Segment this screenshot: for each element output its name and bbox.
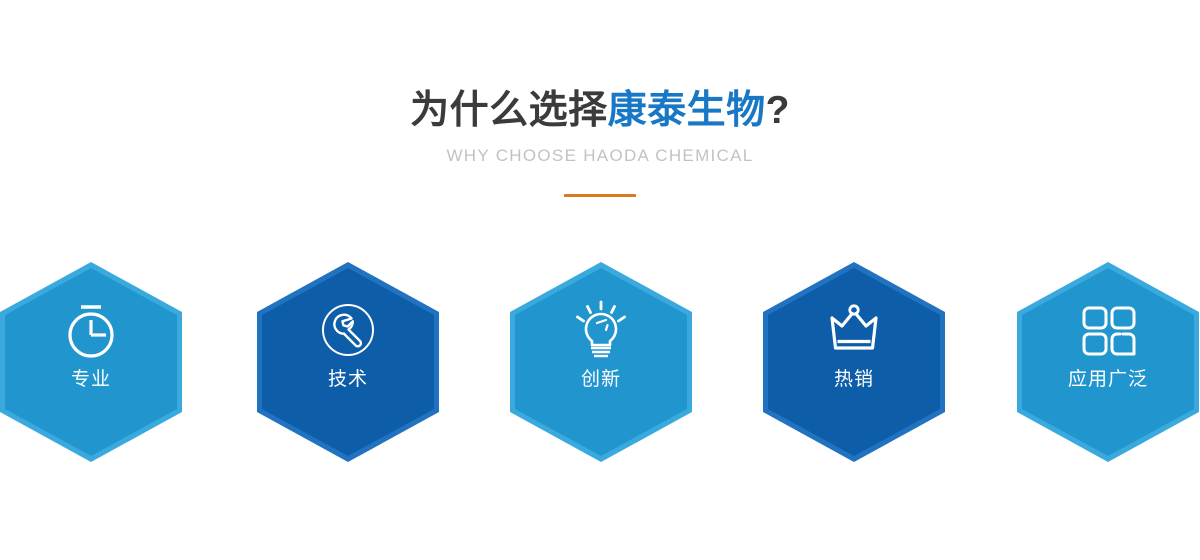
feature-content: 应用广泛 — [1017, 262, 1199, 462]
feature-hexagon-row: 专业 技术 — [0, 262, 1200, 472]
section-header: 为什么选择康泰生物? WHY CHOOSE HAODA CHEMICAL — [0, 0, 1200, 188]
grid-squares-icon — [1076, 298, 1140, 362]
page-title-accent: 康泰生物 — [608, 89, 766, 132]
divider-wrapper — [0, 167, 1200, 188]
page-subtitle: WHY CHOOSE HAODA CHEMICAL — [0, 136, 1200, 167]
feature-label: 专业 — [71, 368, 111, 392]
feature-hexagon-4[interactable]: 热销 — [763, 262, 945, 462]
lightbulb-icon — [569, 298, 633, 362]
wrench-circle-icon — [316, 298, 380, 362]
page-title-question-mark: ? — [766, 89, 790, 132]
page-title: 为什么选择康泰生物? — [0, 0, 1200, 136]
feature-label: 技术 — [328, 368, 368, 392]
feature-hexagon-3[interactable]: 创新 — [510, 262, 692, 462]
feature-label: 应用广泛 — [1068, 368, 1148, 392]
feature-content: 专业 — [0, 262, 182, 462]
feature-hexagon-2[interactable]: 技术 — [257, 262, 439, 462]
stopwatch-icon — [59, 298, 123, 362]
feature-content: 热销 — [763, 262, 945, 462]
feature-hexagon-1[interactable]: 专业 — [0, 262, 182, 462]
page-title-prefix: 为什么选择 — [410, 89, 608, 132]
feature-label: 热销 — [834, 368, 874, 392]
feature-content: 技术 — [257, 262, 439, 462]
feature-hexagon-5[interactable]: 应用广泛 — [1017, 262, 1199, 462]
feature-content: 创新 — [510, 262, 692, 462]
crown-icon — [822, 298, 886, 362]
feature-label: 创新 — [581, 368, 621, 392]
title-divider — [564, 194, 636, 197]
